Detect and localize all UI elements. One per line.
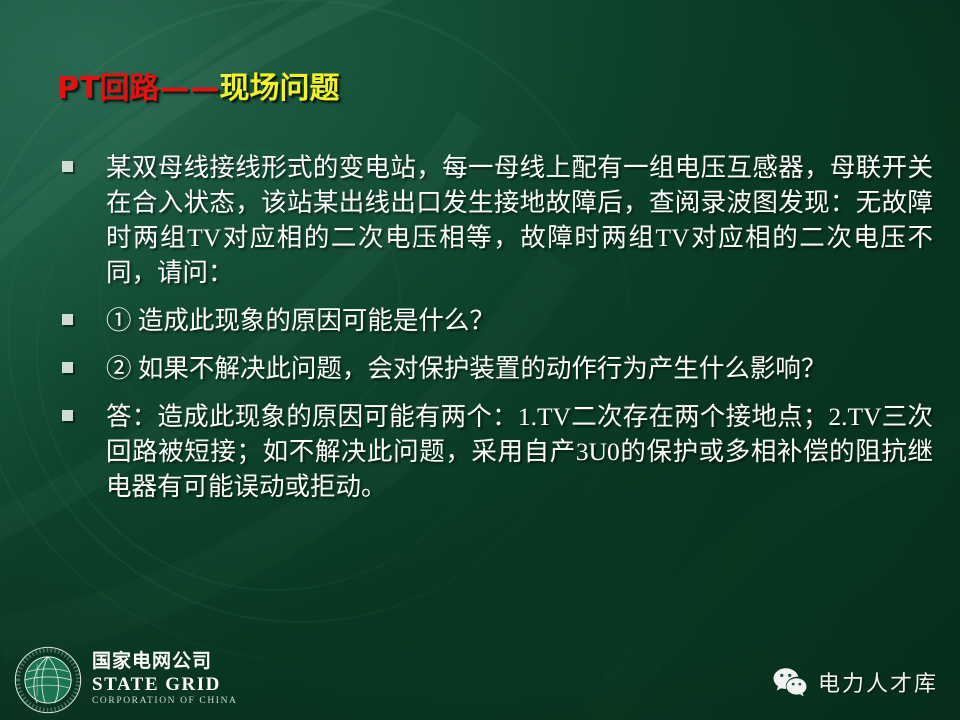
- bullet-text: 答：造成此现象的原因可能有两个：1.TV二次存在两个接地点；2.TV三次回路被短…: [106, 399, 933, 504]
- state-grid-en-name: STATE GRID: [92, 675, 238, 694]
- slide-canvas: PT回路——现场问题 某双母线接线形式的变电站，每一母线上配有一组电压互感器，母…: [0, 0, 960, 720]
- slide-body: 某双母线接线形式的变电站，每一母线上配有一组电压互感器，母联开关在合入状态，该站…: [57, 150, 933, 504]
- slide-title-red-part: PT回路——: [57, 71, 219, 106]
- bullet-item: 某双母线接线形式的变电站，每一母线上配有一组电压互感器，母联开关在合入状态，该站…: [57, 150, 933, 290]
- wechat-watermark: 电力人才库: [773, 666, 938, 698]
- wechat-watermark-label: 电力人才库: [818, 666, 938, 698]
- bullet-item: ② 如果不解决此问题，会对保护装置的动作行为产生什么影响？: [57, 351, 933, 386]
- state-grid-wordmark: 国家电网公司 STATE GRID CORPORATION OF CHINA: [92, 652, 238, 709]
- square-bullet-icon: [62, 314, 73, 325]
- bullet-text: ① 造成此现象的原因可能是什么？: [106, 303, 933, 338]
- state-grid-en-subtitle: CORPORATION OF CHINA: [92, 697, 238, 707]
- square-bullet-icon: [62, 161, 73, 172]
- state-grid-logo: 国家电网公司 STATE GRID CORPORATION OF CHINA: [14, 646, 238, 714]
- wechat-icon: [773, 667, 807, 697]
- slide-title-yellow-part: 现场问题: [219, 71, 339, 106]
- bullet-item: 答：造成此现象的原因可能有两个：1.TV二次存在两个接地点；2.TV三次回路被短…: [57, 399, 933, 504]
- square-bullet-icon: [62, 410, 73, 421]
- bullet-text: 某双母线接线形式的变电站，每一母线上配有一组电压互感器，母联开关在合入状态，该站…: [106, 150, 933, 290]
- state-grid-cn-name: 国家电网公司: [92, 652, 238, 671]
- state-grid-globe-icon: [14, 646, 82, 714]
- bullet-text: ② 如果不解决此问题，会对保护装置的动作行为产生什么影响？: [106, 351, 933, 386]
- square-bullet-icon: [62, 362, 73, 373]
- slide-title: PT回路——现场问题: [57, 74, 339, 104]
- bullet-item: ① 造成此现象的原因可能是什么？: [57, 303, 933, 338]
